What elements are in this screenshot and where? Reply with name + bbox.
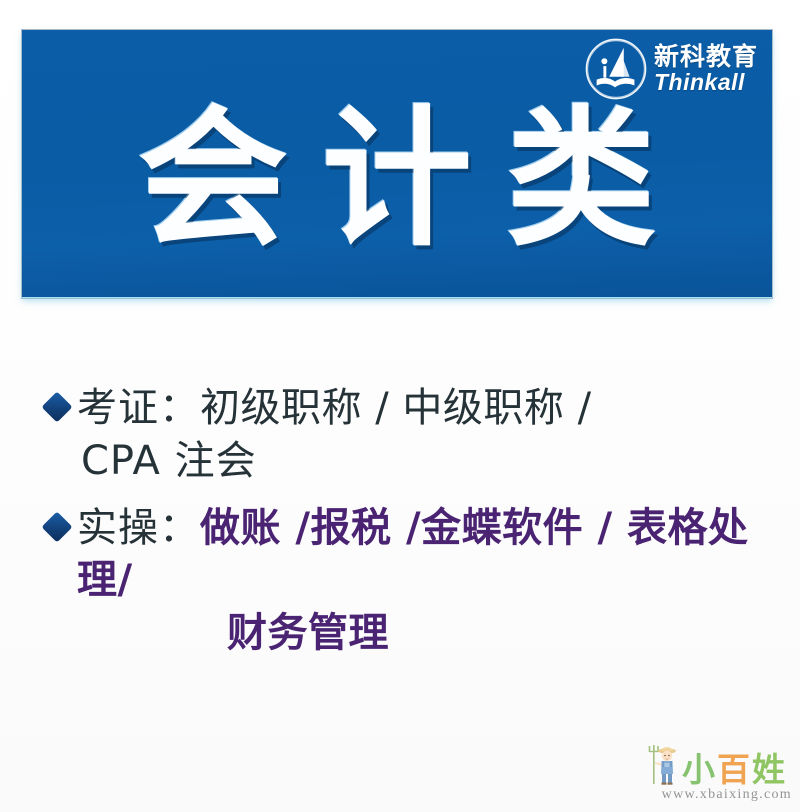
watermark-url: www.xbaixing.com xyxy=(646,787,794,803)
diamond-bullet-icon xyxy=(41,511,72,542)
brand-name-cn: 新科教育 xyxy=(654,44,758,69)
brand-wordmark: 新科教育 Thinkall xyxy=(654,44,758,94)
watermark-logo-row: 小百姓 xyxy=(646,742,794,786)
course-list: 考证：初级职称 / 中级职称 / CPA 注会 实操：做账 /报税 /金蝶软件 … xyxy=(46,382,786,660)
bullet-items-line2: 财务管理 xyxy=(77,607,786,660)
diamond-bullet-icon xyxy=(41,391,72,422)
list-item: 实操：做账 /报税 /金蝶软件 / 表格处理/ 财务管理 xyxy=(46,502,786,660)
bullet-items-line2: CPA 注会 xyxy=(77,435,786,488)
blue-banner: 新科教育 Thinkall 会计类 xyxy=(22,30,772,298)
watermark-char-2: 百 xyxy=(717,750,752,789)
farmer-mascot-icon xyxy=(646,738,680,786)
watermark-characters: 小百姓 xyxy=(682,753,787,786)
brand-name-en: Thinkall xyxy=(654,71,758,94)
list-item: 考证：初级职称 / 中级职称 / CPA 注会 xyxy=(46,382,786,488)
bullet-label: 实操： xyxy=(77,505,200,551)
bullet-text-block: 考证：初级职称 / 中级职称 / CPA 注会 xyxy=(77,382,786,488)
sailboat-logo-icon xyxy=(585,38,647,100)
bullet-label: 考证： xyxy=(77,385,200,431)
bullet-text-block: 实操：做账 /报税 /金蝶软件 / 表格处理/ 财务管理 xyxy=(77,502,786,660)
poster-page: 新科教育 Thinkall 会计类 考证：初级职称 / 中级职称 / CPA 注… xyxy=(0,0,800,812)
watermark-char-3: 姓 xyxy=(752,750,787,789)
watermark-char-1: 小 xyxy=(682,750,717,789)
brand-logo-lockup: 新科教育 Thinkall xyxy=(585,38,758,100)
site-watermark: 小百姓 www.xbaixing.com xyxy=(646,742,794,806)
bullet-items-line1: 初级职称 / 中级职称 / xyxy=(200,385,592,431)
page-title: 会计类 xyxy=(22,102,772,260)
